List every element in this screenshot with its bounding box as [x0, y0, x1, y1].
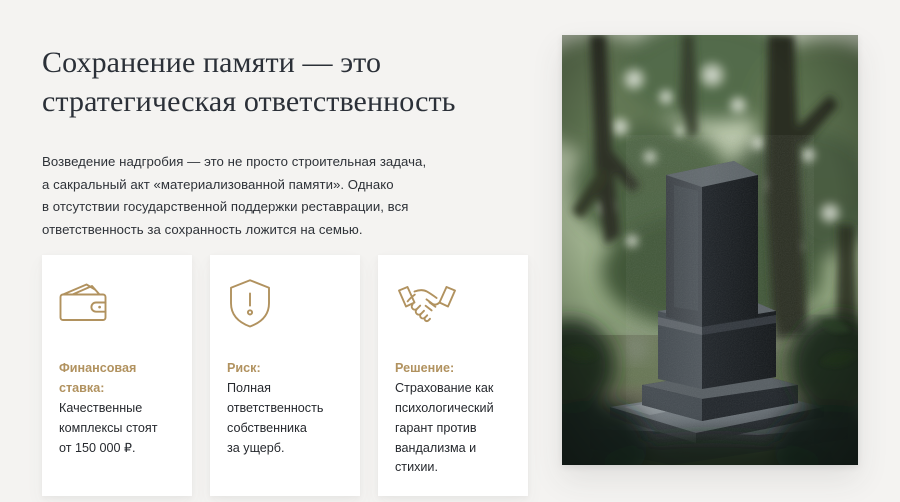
feature-card-solution[interactable]: Решение: Страхование как психологический… — [378, 255, 528, 496]
slide-root: Сохранение памяти — это стратегическая о… — [0, 0, 900, 502]
card-text-block: Финансовая ставка: Качественные комплекс… — [59, 359, 175, 458]
card-label: Риск: — [227, 359, 343, 379]
hero-text-column: Сохранение памяти — это стратегическая о… — [42, 43, 534, 242]
card-text-block: Решение: Страхование как психологический… — [395, 359, 511, 478]
feature-card-risk[interactable]: Риск: Полная ответственность собственник… — [210, 255, 360, 496]
card-label: Финансовая ставка: — [59, 359, 175, 399]
card-body: Страхование как психологический гарант п… — [395, 379, 511, 478]
card-label: Решение: — [395, 359, 511, 379]
hero-paragraph: Возведение надгробия — это не просто стр… — [42, 151, 534, 242]
wallet-icon — [59, 275, 175, 331]
card-body: Качественные комплексы стоят от 150 000 … — [59, 399, 175, 459]
card-text-block: Риск: Полная ответственность собственник… — [227, 359, 343, 458]
page-title: Сохранение памяти — это стратегическая о… — [42, 43, 534, 121]
granite-monument-photo — [562, 35, 858, 465]
photo-illustration — [562, 35, 858, 465]
shield-alert-icon — [227, 275, 343, 331]
feature-card-grid: Финансовая ставка: Качественные комплекс… — [42, 255, 529, 496]
feature-card-financial[interactable]: Финансовая ставка: Качественные комплекс… — [42, 255, 192, 496]
handshake-icon — [395, 275, 511, 331]
card-body: Полная ответственность собственника за у… — [227, 379, 343, 459]
